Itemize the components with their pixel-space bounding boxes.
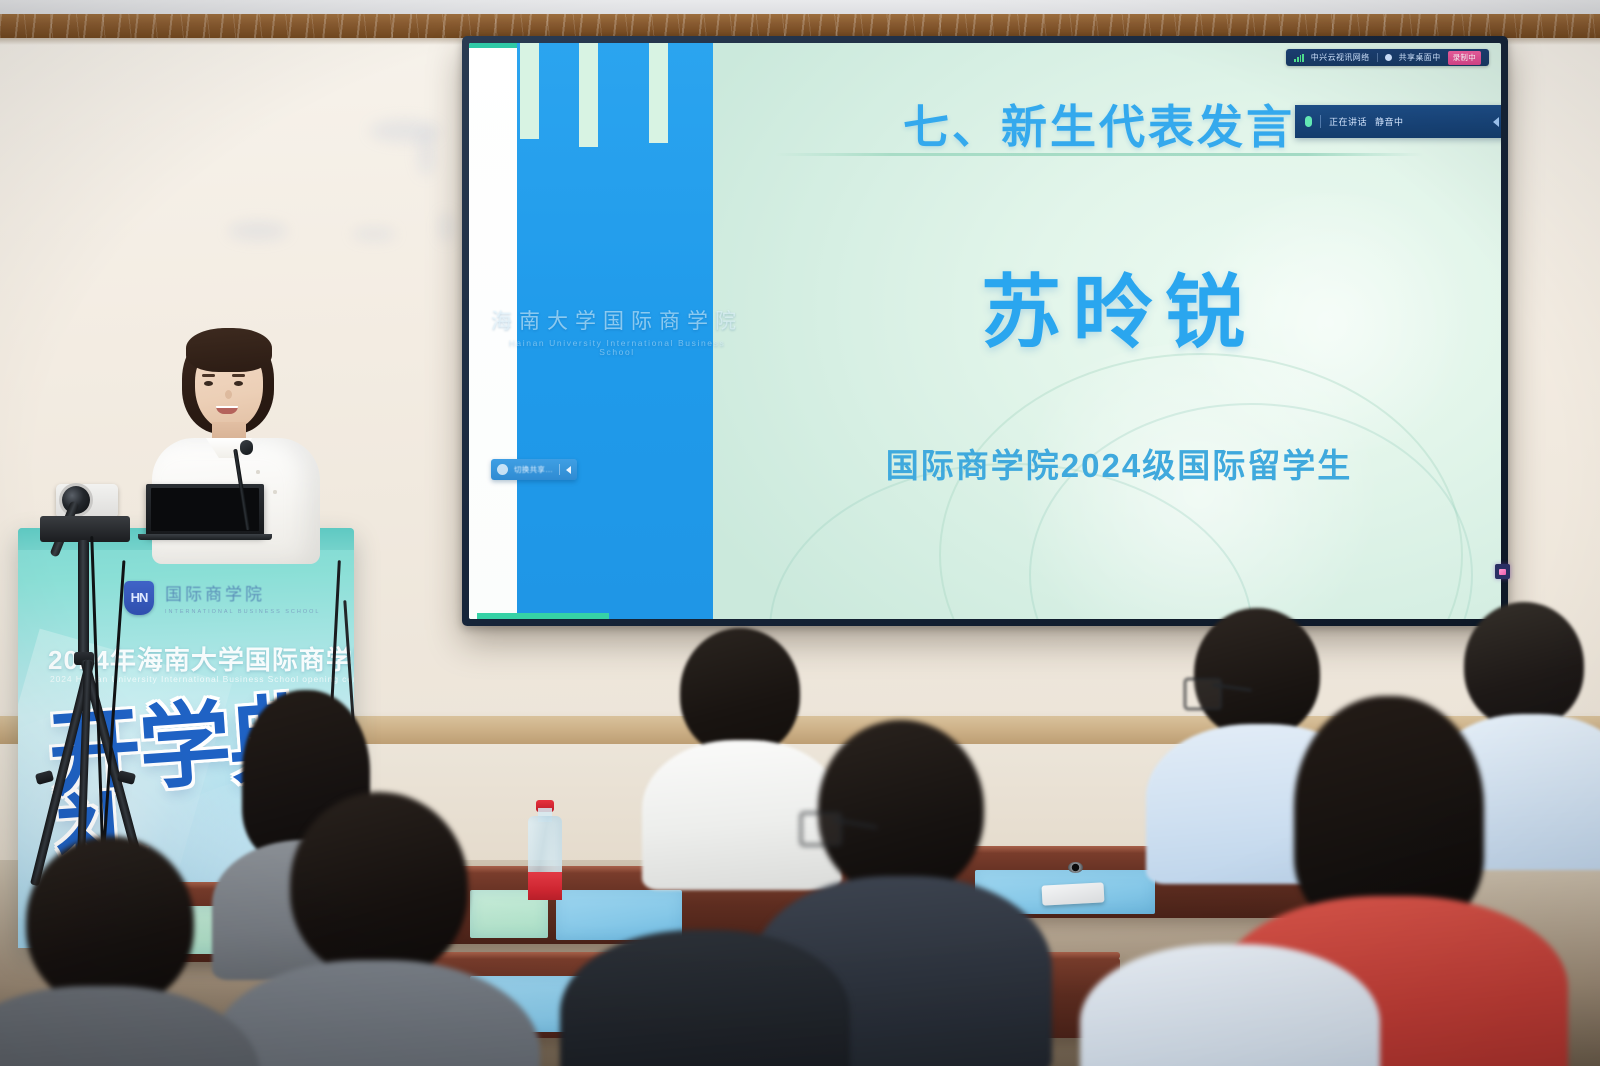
logo-en: INTERNATIONAL BUSINESS SCHOOL <box>165 609 321 615</box>
stop-share-icon[interactable] <box>497 464 508 475</box>
hair <box>1294 696 1484 926</box>
audience-member <box>256 792 506 1066</box>
school-watermark: 海南大学国际商学院 Hainan University Internationa… <box>491 311 743 356</box>
blouse-button <box>256 470 260 474</box>
slide-speaker-name: 苏昤锐 <box>769 248 1469 364</box>
water-bottle[interactable] <box>528 800 562 896</box>
speaker-hair-front <box>186 328 272 372</box>
shoulders <box>1080 944 1380 1066</box>
bottle-label <box>528 872 562 900</box>
head <box>290 792 468 978</box>
share-toolbar-label: 切换共享… <box>514 464 553 475</box>
conference-status-bar[interactable]: 中兴云视讯网络 共享桌面中 录制中 <box>1286 49 1489 66</box>
collapse-chevron-icon[interactable] <box>1493 117 1499 127</box>
recording-badge: 录制中 <box>1448 51 1481 65</box>
wall-mark <box>352 228 396 240</box>
speaker-eye <box>234 381 243 386</box>
slide-canvas: 海南大学国际商学院 Hainan University Internationa… <box>469 43 1501 619</box>
signal-strength-icon <box>1294 54 1303 62</box>
logo-monogram: HN <box>131 590 148 605</box>
wall-mark <box>440 212 452 242</box>
wall-mark <box>228 222 288 240</box>
divider <box>1377 53 1378 62</box>
toast-status-label: 静音中 <box>1375 115 1404 128</box>
wood-crown-molding <box>0 14 1600 38</box>
connection-label: 共享桌面中 <box>1399 52 1441 63</box>
signal-label: 中兴云视讯网络 <box>1311 52 1370 63</box>
audience-member <box>560 930 850 1066</box>
speaker-eyebrow <box>232 374 245 377</box>
conference-toast[interactable]: 正在讲话 静音中 <box>1295 105 1501 138</box>
shoulders <box>210 960 540 1066</box>
presentation-display[interactable]: 海南大学国际商学院 Hainan University Internationa… <box>462 36 1508 626</box>
laptop-base <box>138 534 272 540</box>
share-screen-icon <box>1385 54 1392 61</box>
eyeglasses-lens <box>800 812 842 846</box>
lecture-hall-photo: 海南大学国际商学院 Hainan University Internationa… <box>0 0 1600 1066</box>
audience-member <box>1080 944 1380 1066</box>
school-logo: HN 国际商学院 INTERNATIONAL BUSINESS SCHOOL <box>124 580 321 615</box>
tripod-center-column <box>78 540 89 660</box>
blouse-button <box>273 490 277 494</box>
logo-cn: 国际商学院 <box>165 580 321 605</box>
slide-stripe <box>579 43 598 147</box>
smartphone[interactable] <box>1042 882 1105 905</box>
microphone-icon <box>1305 116 1312 127</box>
audience-member <box>0 836 240 1066</box>
tripod-head-plate <box>40 516 130 542</box>
watermark-en: Hainan University International Business… <box>491 339 743 356</box>
shoulders <box>560 930 850 1066</box>
speaker-eye <box>204 381 213 386</box>
toast-mic-label: 正在讲话 <box>1329 115 1367 128</box>
microphone-head <box>240 440 253 455</box>
divider <box>559 464 560 475</box>
toolbar-chevron-icon[interactable] <box>566 466 571 474</box>
bottle-body <box>528 816 562 896</box>
divider <box>1320 115 1321 128</box>
speaker-nose <box>225 390 232 399</box>
desk-cable-grommet <box>1068 862 1083 873</box>
slide-title-divider <box>775 153 1423 156</box>
slide-stripe <box>649 43 668 143</box>
slide-subtitle: 国际商学院2024级国际留学生 <box>719 439 1501 487</box>
shield-icon: HN <box>124 581 154 615</box>
head <box>818 720 984 896</box>
slide-stripe <box>520 43 539 139</box>
shoulders <box>0 986 260 1066</box>
watermark-cn: 海南大学国际商学院 <box>491 311 743 332</box>
speaker-eyebrow <box>202 374 215 377</box>
app-indicator-icon[interactable] <box>1495 564 1510 579</box>
wall-mark <box>418 130 434 176</box>
logo-text-group: 国际商学院 INTERNATIONAL BUSINESS SCHOOL <box>165 580 321 615</box>
head <box>26 836 194 1008</box>
slide-teal-accent-bottom <box>477 613 609 619</box>
share-toolbar[interactable]: 切换共享… <box>491 459 577 480</box>
head <box>680 628 800 756</box>
